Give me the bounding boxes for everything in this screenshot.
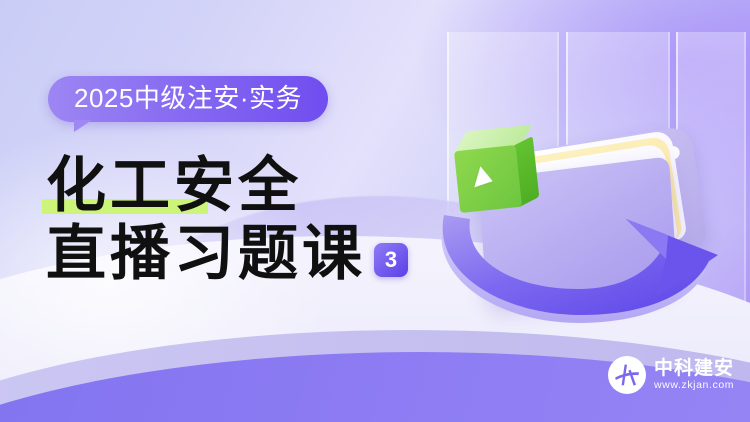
circular-arrow-icon [430, 185, 720, 335]
title-highlight-wrap: 化工安全 [46, 152, 302, 220]
zkjan-logo-icon [608, 356, 646, 394]
logo-company-name: 中科建安 [654, 359, 734, 378]
category-pill: 2025中级注安·实务 [48, 76, 328, 122]
title-line-1-text: 化工安全 [46, 151, 302, 221]
logo-website-url: www.zkjan.com [654, 380, 734, 391]
folder-illustration [420, 20, 750, 350]
title-line-2-row: 直播习题课 3 [46, 220, 408, 288]
title-line-2-text: 直播习题课 [46, 220, 366, 288]
episode-badge: 3 [374, 243, 408, 277]
logo-text-group: 中科建安 www.zkjan.com [654, 359, 734, 391]
course-promo-banner: 2025中级注安·实务 化工安全 直播习题课 3 中科建安 www.zkjan.… [0, 0, 750, 422]
brand-logo: 中科建安 www.zkjan.com [608, 356, 734, 394]
title-line-1: 化工安全 [46, 152, 408, 220]
title-block: 化工安全 直播习题课 3 [46, 152, 408, 288]
